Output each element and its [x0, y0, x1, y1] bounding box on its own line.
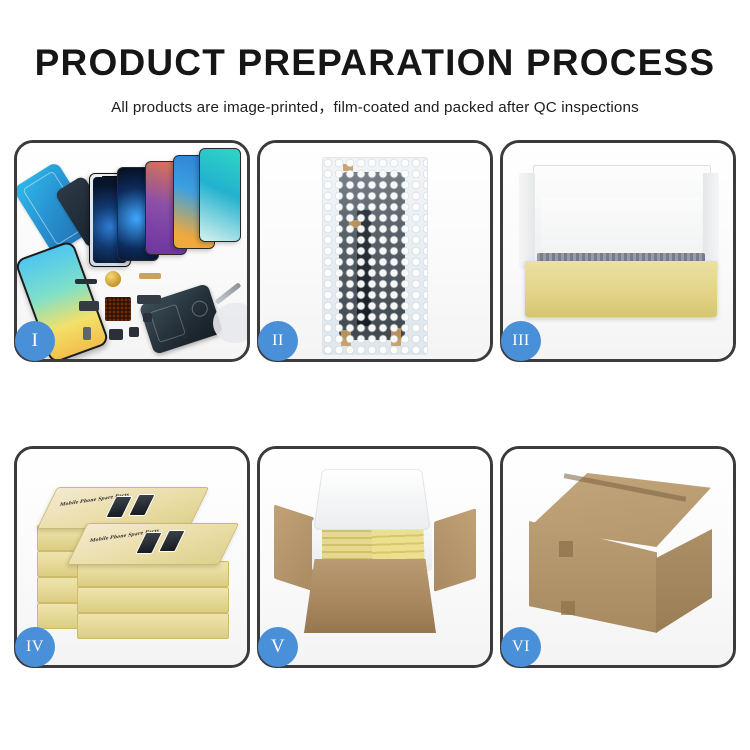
- hand-icon: [213, 303, 247, 343]
- step-badge-5: V: [258, 627, 298, 667]
- step-4-image: Mobile Phone Spare Parts Mobile Phone Sp…: [17, 449, 247, 665]
- bubble-texture: [323, 158, 427, 354]
- step-6-image: [503, 449, 733, 665]
- step-badge-4: IV: [15, 627, 55, 667]
- component-icon: [129, 327, 139, 337]
- process-step-1: I: [14, 140, 250, 362]
- component-icon: [83, 327, 91, 340]
- process-step-6: VI: [500, 446, 736, 668]
- yellow-box-body: [525, 261, 717, 317]
- carton-tab-icon: [561, 601, 575, 615]
- box-flap-left: [519, 173, 535, 269]
- carton-body: [304, 559, 436, 633]
- carton-flap-left: [274, 505, 314, 592]
- notch-icon: [102, 176, 118, 180]
- component-icon: [75, 279, 97, 284]
- bubble-wrap-pouch: [322, 157, 428, 355]
- process-step-2: II: [257, 140, 493, 362]
- styrofoam-lid: [313, 469, 431, 530]
- header: PRODUCT PREPARATION PROCESS All products…: [0, 0, 750, 117]
- process-step-5: V: [257, 446, 493, 668]
- tweezers-icon: [215, 282, 242, 304]
- flex-cable-icon: [137, 295, 161, 304]
- flex-cable-icon: [139, 273, 161, 279]
- carton-flap-right: [434, 508, 476, 592]
- phone-screen-icon: [199, 148, 241, 242]
- process-step-3: III: [500, 140, 736, 362]
- chip-grid-icon: [105, 297, 131, 321]
- step-badge-6: VI: [501, 627, 541, 667]
- step-3-image: [503, 143, 733, 359]
- step-2-image: [260, 143, 490, 359]
- step-badge-1: I: [15, 321, 55, 361]
- process-step-grid: I II: [14, 140, 736, 668]
- component-icon: [143, 313, 152, 322]
- step-1-image: [17, 143, 247, 359]
- process-step-4: Mobile Phone Spare Parts Mobile Phone Sp…: [14, 446, 250, 668]
- page-title: PRODUCT PREPARATION PROCESS: [0, 0, 750, 83]
- speaker-coil-icon: [105, 271, 121, 287]
- phone-parts-scene: [17, 143, 247, 359]
- box-thumbnail-icon: [158, 530, 186, 552]
- carton-tab-icon: [559, 541, 573, 557]
- box-flap-right: [703, 173, 719, 269]
- box-lid-top: Mobile Phone Spare Parts: [67, 523, 239, 565]
- box-thumbnail-icon: [128, 494, 156, 516]
- component-icon: [109, 329, 123, 340]
- step-5-image: [260, 449, 490, 665]
- box-stack: Mobile Phone Spare Parts Mobile Phone Sp…: [33, 473, 235, 649]
- carton-side-face: [656, 529, 712, 633]
- step-badge-3: III: [501, 321, 541, 361]
- flex-cable-icon: [79, 301, 99, 311]
- step-badge-2: II: [258, 321, 298, 361]
- page-subtitle: All products are image-printed，film-coat…: [0, 83, 750, 117]
- product-preparation-infographic: PRODUCT PREPARATION PROCESS All products…: [0, 0, 750, 750]
- phone-fan-group: [89, 159, 239, 264]
